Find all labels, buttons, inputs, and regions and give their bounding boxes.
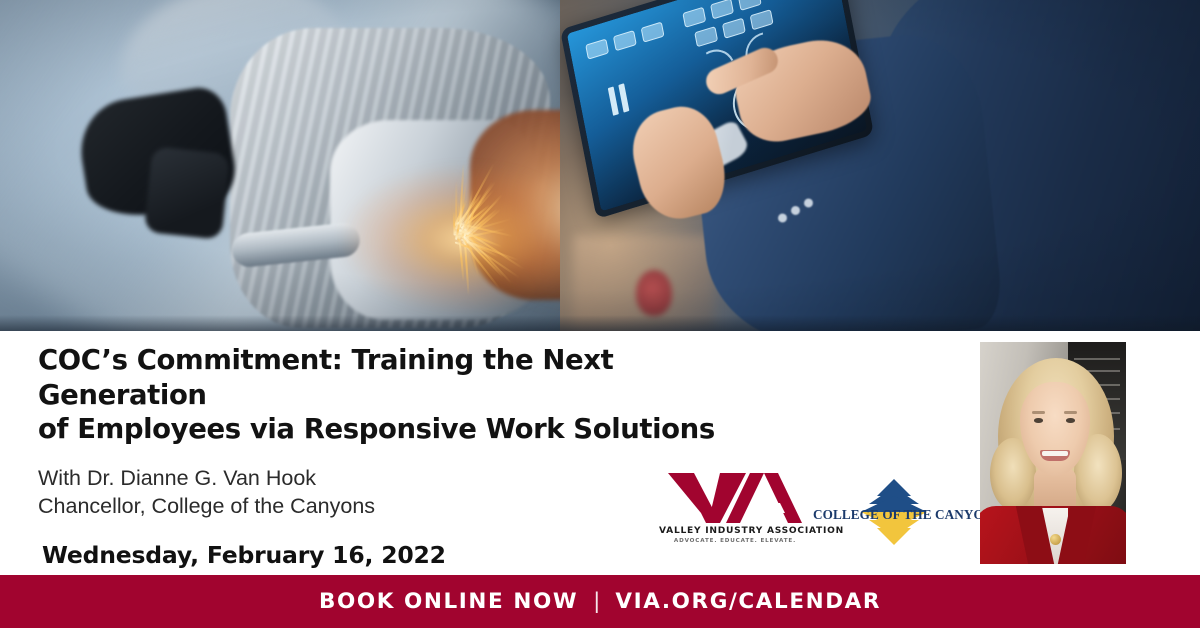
cta-inner: BOOK ONLINE NOW | VIA.ORG/CALENDAR bbox=[319, 589, 881, 614]
hero-vignette bbox=[0, 0, 1200, 331]
event-flyer: COC’s Commitment: Training the Next Gene… bbox=[0, 0, 1200, 628]
event-title: COC’s Commitment: Training the Next Gene… bbox=[38, 343, 778, 447]
coc-logo-name: COLLEGE OF THE CANYONS bbox=[813, 507, 975, 523]
hero-image bbox=[0, 0, 1200, 331]
coc-logo[interactable]: COLLEGE OF THE CANYONS bbox=[813, 475, 975, 551]
cta-bar[interactable]: BOOK ONLINE NOW | VIA.ORG/CALENDAR bbox=[0, 575, 1200, 628]
via-logo-tagline: ADVOCATE. EDUCATE. ELEVATE. bbox=[659, 538, 811, 544]
headshot-smile bbox=[1040, 450, 1070, 461]
headshot-necklace bbox=[1050, 534, 1061, 545]
cta-url[interactable]: VIA.ORG/CALENDAR bbox=[615, 589, 881, 614]
headshot-eye bbox=[1066, 418, 1075, 423]
content-area: COC’s Commitment: Training the Next Gene… bbox=[0, 331, 1200, 575]
speaker-headshot bbox=[980, 342, 1126, 564]
hero-bottom-fade bbox=[0, 315, 1200, 331]
headshot-eye bbox=[1034, 418, 1043, 423]
cta-label[interactable]: BOOK ONLINE NOW bbox=[319, 589, 578, 614]
headshot-eyebrow bbox=[1064, 411, 1077, 414]
via-logo[interactable]: VALLEY INDUSTRY ASSOCIATION ADVOCATE. ED… bbox=[659, 473, 811, 553]
logo-row: VALLEY INDUSTRY ASSOCIATION ADVOCATE. ED… bbox=[655, 473, 975, 555]
headshot-eyebrow bbox=[1032, 411, 1045, 414]
via-monogram-icon bbox=[668, 473, 802, 523]
via-logo-name: VALLEY INDUSTRY ASSOCIATION bbox=[659, 526, 811, 536]
cta-separator: | bbox=[593, 589, 600, 614]
